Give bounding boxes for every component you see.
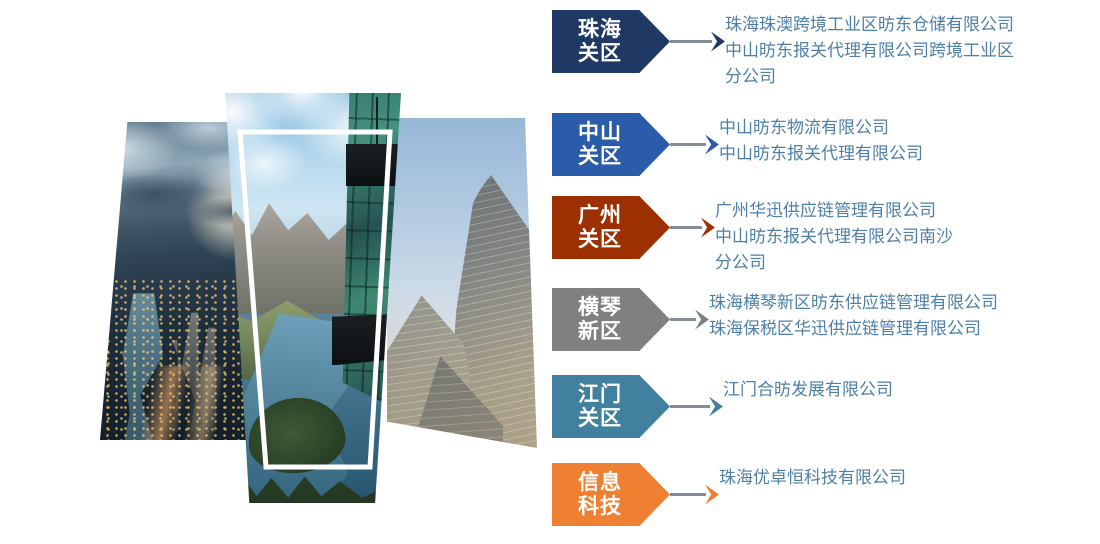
arrow-zhongshan (670, 113, 719, 176)
arrow-head-icon (695, 310, 709, 330)
company-list-zhongshan: 中山昉东物流有限公司 中山昉东报关代理有限公司 (719, 113, 1100, 167)
arrow-hengqin (670, 288, 709, 351)
diagram-canvas: 珠海 关区 珠海珠澳跨境工业区昉东仓储有限公司 中山昉东报关代理有限公司跨境工业… (0, 0, 1100, 544)
arrow-guangzhou (670, 196, 715, 259)
company-list-jiangmen: 江门合昉发展有限公司 (723, 375, 1100, 403)
arrow-line-icon (670, 405, 710, 408)
region-row-zhongshan[interactable]: 中山 关区 中山昉东物流有限公司 中山昉东报关代理有限公司 (552, 113, 1100, 176)
company-list-zhuhai: 珠海珠澳跨境工业区昉东仓储有限公司 中山昉东报关代理有限公司跨境工业区 分公司 (725, 10, 1100, 89)
region-badge-label-line1: 信息 (578, 471, 622, 495)
region-badge-xinxikeji[interactable]: 信息 科技 (552, 463, 670, 526)
region-row-xinxikeji[interactable]: 信息 科技 珠海优卓恒科技有限公司 (552, 463, 1100, 526)
arrow-head-icon (709, 397, 723, 417)
region-row-zhuhai[interactable]: 珠海 关区 珠海珠澳跨境工业区昉东仓储有限公司 中山昉东报关代理有限公司跨境工业… (552, 10, 1100, 89)
region-badge-hengqin[interactable]: 横琴 新区 (552, 288, 670, 351)
region-badge-label-line1: 江门 (578, 383, 622, 407)
region-badge-label-line1: 珠海 (578, 18, 622, 42)
region-badge-label-line1: 中山 (578, 121, 622, 145)
region-badge-label-line2: 新区 (578, 320, 622, 344)
arrow-head-icon (701, 218, 715, 238)
glass-tower-upper-deck (346, 144, 402, 186)
photo-night-city-river (100, 122, 252, 440)
scene-mountain-lake (216, 93, 401, 503)
region-badge-label-line2: 关区 (578, 228, 622, 252)
region-badge-label-line1: 广州 (578, 204, 622, 228)
company-list-xinxikeji: 珠海优卓恒科技有限公司 (719, 463, 1100, 491)
region-badge-label-line1: 横琴 (578, 296, 622, 320)
city-light-streaks (104, 366, 252, 440)
region-badge-zhongshan[interactable]: 中山 关区 (552, 113, 670, 176)
scene-night-city (100, 122, 252, 440)
arrow-line-icon (670, 318, 696, 321)
region-badge-label-line2: 科技 (578, 495, 622, 519)
photo-modern-architecture-content (387, 118, 537, 448)
photo-collage (0, 0, 560, 544)
arrow-xinxikeji (670, 463, 719, 526)
arch-shading-overlay (387, 118, 537, 448)
company-list-hengqin: 珠海横琴新区昉东供应链管理有限公司 珠海保税区华迅供应链管理有限公司 (709, 288, 1100, 342)
arrow-jiangmen (670, 375, 723, 438)
region-row-jiangmen[interactable]: 江门 关区 江门合昉发展有限公司 (552, 375, 1100, 438)
arrow-line-icon (670, 143, 706, 146)
arrow-head-icon (705, 485, 719, 505)
region-company-list: 珠海 关区 珠海珠澳跨境工业区昉东仓储有限公司 中山昉东报关代理有限公司跨境工业… (552, 0, 1100, 544)
photo-night-city-river-content (100, 122, 252, 440)
arrow-head-icon (705, 135, 719, 155)
arrow-line-icon (670, 493, 706, 496)
region-badge-label-line2: 关区 (578, 42, 622, 66)
region-badge-label-line2: 关区 (578, 145, 622, 169)
arrow-zhuhai (670, 10, 725, 73)
region-badge-jiangmen[interactable]: 江门 关区 (552, 375, 670, 438)
photo-mountain-lake-content (216, 93, 401, 503)
region-row-guangzhou[interactable]: 广州 关区 广州华迅供应链管理有限公司 中山昉东报关代理有限公司南沙 分公司 (552, 196, 1100, 275)
scene-modern-architecture (387, 118, 537, 448)
region-badge-label-line2: 关区 (578, 407, 622, 431)
region-badge-zhuhai[interactable]: 珠海 关区 (552, 10, 670, 73)
company-list-guangzhou: 广州华迅供应链管理有限公司 中山昉东报关代理有限公司南沙 分公司 (715, 196, 1100, 275)
arrow-line-icon (670, 226, 702, 229)
photo-mountain-lake (216, 93, 401, 503)
arrow-head-icon (711, 32, 725, 52)
arrow-line-icon (670, 40, 712, 43)
photo-modern-architecture (387, 118, 537, 448)
region-row-hengqin[interactable]: 横琴 新区 珠海横琴新区昉东供应链管理有限公司 珠海保税区华迅供应链管理有限公司 (552, 288, 1100, 351)
region-badge-guangzhou[interactable]: 广州 关区 (552, 196, 670, 259)
